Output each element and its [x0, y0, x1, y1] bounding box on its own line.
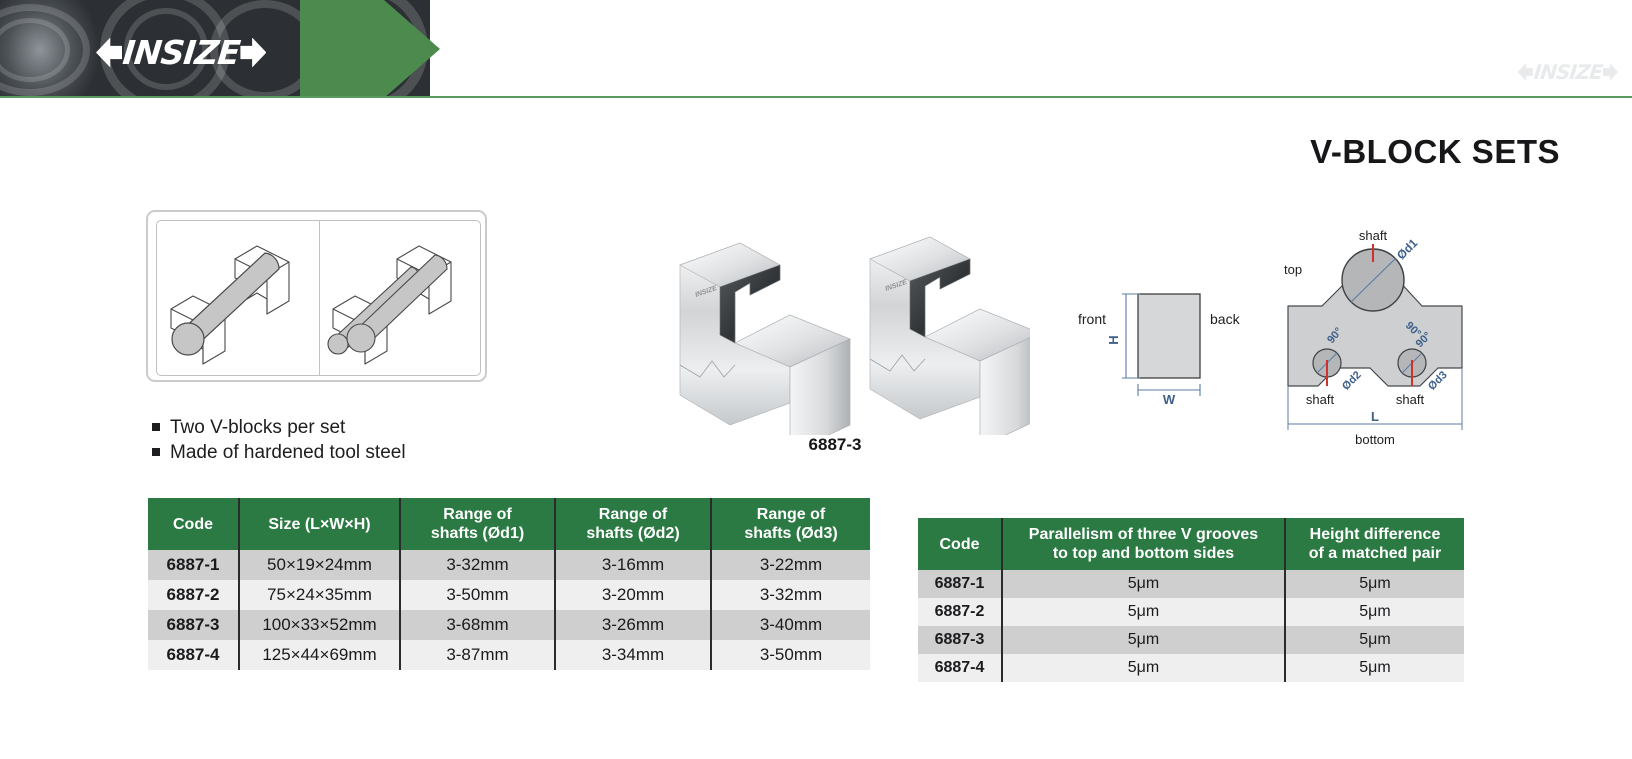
header-green-rule — [0, 96, 1632, 98]
cell-size: 75×24×35mm — [239, 580, 400, 610]
cell-range-d2: 3-26mm — [555, 610, 711, 640]
bottom-label: bottom — [1355, 432, 1395, 447]
bullet-square-icon — [152, 423, 160, 431]
cell-parallelism: 5μm — [1002, 654, 1285, 682]
header-parallelism: Parallelism of three V grooves to top an… — [1002, 518, 1285, 570]
catalog-page: INSIZE INSIZE V-BLOCK SETS — [0, 0, 1632, 759]
application-illustration-box — [146, 210, 487, 382]
watermark-left-arrow-icon — [1518, 63, 1533, 81]
insize-logo: INSIZE — [96, 36, 266, 69]
feature-list: Two V-blocks per set Made of hardened to… — [152, 415, 406, 465]
accuracy-specification-table: Code Parallelism of three V grooves to t… — [918, 518, 1464, 682]
table-row: 6887-4 125×44×69mm 3-87mm 3-34mm 3-50mm — [148, 640, 870, 670]
cell-size: 100×33×52mm — [239, 610, 400, 640]
back-label: back — [1210, 311, 1241, 327]
cell-size: 50×19×24mm — [239, 550, 400, 580]
cell-code: 6887-1 — [918, 570, 1002, 598]
insize-watermark-logo: INSIZE — [1518, 62, 1618, 82]
cell-range-d3: 3-22mm — [711, 550, 870, 580]
shaft-label-left: shaft — [1306, 392, 1335, 407]
cell-range-d1: 3-68mm — [400, 610, 555, 640]
cell-parallelism: 5μm — [1002, 598, 1285, 626]
table-row: 6887-1 5μm 5μm — [918, 570, 1464, 598]
page-title: V-BLOCK SETS — [1310, 133, 1560, 171]
table-row: 6887-2 5μm 5μm — [918, 598, 1464, 626]
single-shaft-drawing — [157, 221, 319, 375]
header-range-d1: Range of shafts (Ød1) — [400, 498, 555, 550]
header-height-difference: Height difference of a matched pair — [1285, 518, 1464, 570]
logo-wordmark: INSIZE — [120, 36, 242, 69]
logo-left-arrow-icon — [96, 38, 122, 68]
page-header: INSIZE INSIZE — [0, 0, 1632, 98]
dia-d1-label: Ød1 — [1394, 236, 1421, 263]
watermark-right-arrow-icon — [1603, 63, 1618, 81]
product-photo: INSIZE INSIZE — [640, 235, 1030, 435]
table-row: 6887-3 100×33×52mm 3-68mm 3-26mm 3-40mm — [148, 610, 870, 640]
feature-text: Made of hardened tool steel — [170, 440, 406, 465]
cell-parallelism: 5μm — [1002, 626, 1285, 654]
shaft-label-top: shaft — [1359, 228, 1388, 243]
feature-item: Made of hardened tool steel — [152, 440, 406, 465]
cell-code: 6887-2 — [918, 598, 1002, 626]
cell-range-d3: 3-40mm — [711, 610, 870, 640]
cell-range-d2: 3-16mm — [555, 550, 711, 580]
illustration-single-shaft — [157, 221, 319, 375]
header-code: Code — [918, 518, 1002, 570]
illustration-double-shaft — [319, 221, 481, 375]
v-groove-cross-section-diagram: Ød1 shaft Ød2 shaft Ød3 shaft 90° 90° 90… — [1270, 228, 1495, 458]
cell-code: 6887-2 — [148, 580, 239, 610]
cell-height-difference: 5μm — [1285, 570, 1464, 598]
cell-height-difference: 5μm — [1285, 626, 1464, 654]
feature-item: Two V-blocks per set — [152, 415, 406, 440]
table-row: 6887-1 50×19×24mm 3-32mm 3-16mm 3-22mm — [148, 550, 870, 580]
header-range-d2: Range of shafts (Ød2) — [555, 498, 711, 550]
table-header-row: Code Parallelism of three V grooves to t… — [918, 518, 1464, 570]
cell-range-d3: 3-32mm — [711, 580, 870, 610]
watermark-wordmark: INSIZE — [1532, 62, 1604, 82]
cell-size: 125×44×69mm — [239, 640, 400, 670]
dia-d2-label: Ød2 — [1340, 369, 1364, 393]
header-code: Code — [148, 498, 239, 550]
dimension-h-label: H — [1106, 335, 1121, 344]
cell-range-d1: 3-87mm — [400, 640, 555, 670]
bullet-square-icon — [152, 448, 160, 456]
dimension-l-label: L — [1371, 409, 1379, 424]
double-shaft-drawing — [319, 221, 481, 375]
table-header-row: Code Size (L×W×H) Range of shafts (Ød1) … — [148, 498, 870, 550]
cell-range-d2: 3-34mm — [555, 640, 711, 670]
table-row: 6887-4 5μm 5μm — [918, 654, 1464, 682]
table-row: 6887-2 75×24×35mm 3-50mm 3-20mm 3-32mm — [148, 580, 870, 610]
cell-code: 6887-3 — [148, 610, 239, 640]
header-range-d3: Range of shafts (Ød3) — [711, 498, 870, 550]
logo-right-arrow-icon — [240, 38, 266, 68]
table-row: 6887-3 5μm 5μm — [918, 626, 1464, 654]
cell-range-d1: 3-50mm — [400, 580, 555, 610]
header-size: Size (L×W×H) — [239, 498, 400, 550]
shaft-label-right: shaft — [1396, 392, 1425, 407]
v-blocks-photo-drawing: INSIZE INSIZE — [640, 235, 1030, 435]
feature-text: Two V-blocks per set — [170, 415, 345, 440]
cell-parallelism: 5μm — [1002, 570, 1285, 598]
cell-height-difference: 5μm — [1285, 598, 1464, 626]
dimension-w-label: W — [1163, 392, 1176, 407]
cell-height-difference: 5μm — [1285, 654, 1464, 682]
cell-range-d1: 3-32mm — [400, 550, 555, 580]
cell-code: 6887-3 — [918, 626, 1002, 654]
top-label: top — [1284, 262, 1302, 277]
cell-code: 6887-4 — [918, 654, 1002, 682]
product-photo-caption: 6887-3 — [640, 435, 1030, 455]
cell-range-d3: 3-50mm — [711, 640, 870, 670]
cell-code: 6887-1 — [148, 550, 239, 580]
cell-code: 6887-4 — [148, 640, 239, 670]
height-width-diagram: H W front back — [1060, 280, 1265, 410]
main-specification-table: Code Size (L×W×H) Range of shafts (Ød1) … — [148, 498, 870, 670]
cell-range-d2: 3-20mm — [555, 580, 711, 610]
front-label: front — [1078, 311, 1106, 327]
